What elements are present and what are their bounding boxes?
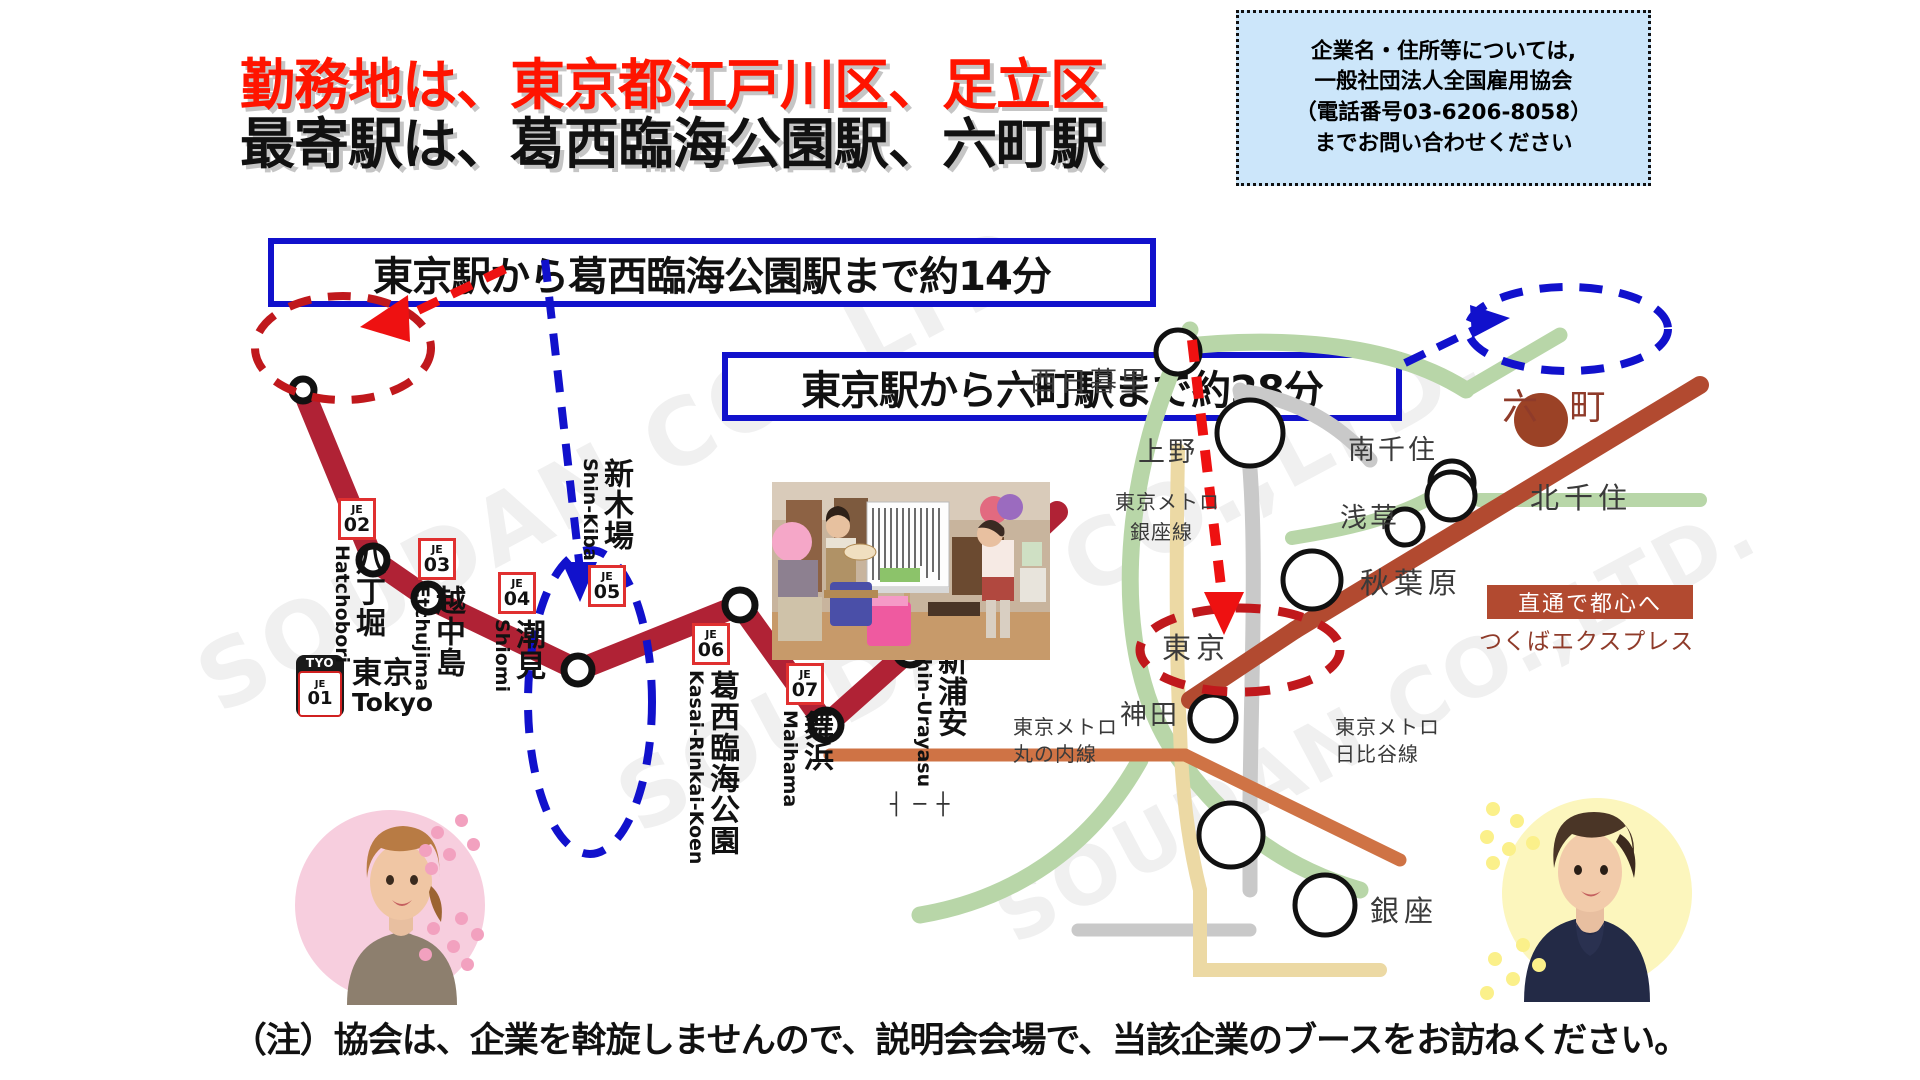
line-code: JE: [431, 544, 443, 555]
footnote-text: （注）協会は、企業を斡旋しませんので、説明会会場で、当該企業のブースをお訪ねくだ…: [232, 1021, 1688, 1061]
decor-dot: [1480, 830, 1494, 844]
station-number: 04: [504, 590, 530, 609]
contact-line-3: （電話番号03-6206-8058）: [1295, 98, 1591, 129]
metro-line-label-ginza-1: 東京メトロ: [1115, 490, 1220, 516]
station-label-shinkiba: 新木場 Shin-Kiba: [580, 458, 630, 561]
headline-line-1: 勤務地は、東京都江戸川区、足立区: [240, 56, 1104, 115]
footnote: （注）協会は、企業を斡旋しませんので、説明会会場で、当該企業のブースをお訪ねくだ…: [0, 1012, 1920, 1063]
scale-bar: ┤ ─ ┼: [890, 792, 951, 816]
callout-kasai-time: 東京駅から葛西臨海公園駅まで約14分: [268, 238, 1156, 307]
metro-line-label-marunouchi-1: 東京メトロ: [1013, 715, 1118, 741]
metro-label-kita-senju: 北千住: [1530, 475, 1632, 517]
station-number-box-je07: JE 07: [786, 663, 824, 705]
metro-label-asakusa: 浅草: [1340, 496, 1400, 535]
line-code: JE: [601, 571, 613, 582]
decor-dot: [427, 922, 440, 935]
decor-dot: [447, 940, 460, 953]
decor-dot: [425, 862, 438, 875]
station-number: 05: [594, 583, 620, 602]
station-name-jp: 葛西臨海公園: [706, 670, 736, 856]
station-name-romaji: Kasai-Rinkai-Koen: [686, 670, 705, 864]
decor-dot: [461, 958, 474, 971]
callout-kasai-text: 東京駅から葛西臨海公園駅まで約14分: [373, 244, 1051, 302]
metro-label-tokyo: 東京: [1162, 625, 1230, 667]
contact-line-4: までお問い合わせください: [1314, 129, 1572, 160]
line-code: JE: [705, 629, 717, 640]
metro-label-nishi-nippori: 西日暮里: [1030, 360, 1150, 399]
station-name-romaji: Hatchobori: [332, 545, 351, 663]
station-name-romaji: Shin-Urayasu: [914, 645, 933, 787]
station-marker-tokyo: TYO JE 01: [296, 655, 344, 717]
metro-label-akihabara: 秋葉原: [1360, 560, 1462, 602]
decor-dot: [1486, 802, 1500, 816]
decor-dot: [1488, 952, 1502, 966]
line-code: JE: [351, 504, 363, 515]
station-number: 03: [424, 556, 450, 575]
station-number: 01: [307, 690, 332, 708]
station-name-jp: 越中島: [432, 585, 462, 678]
station-name-romaji: Maihama: [780, 710, 799, 807]
decor-dot: [1516, 938, 1530, 952]
station-name-jp: 八丁堀: [352, 545, 382, 638]
line-code: JE: [511, 578, 523, 589]
metro-line-label-marunouchi-2: 丸の内線: [1013, 742, 1097, 768]
decor-dot: [431, 826, 444, 839]
station-number-box-je02: JE 02: [338, 498, 376, 540]
decor-dot: [1502, 842, 1516, 856]
decor-dot: [467, 838, 480, 851]
station-name-romaji: Tokyo: [352, 690, 433, 716]
decor-dot: [443, 848, 456, 861]
station-number-box-je03: JE 03: [418, 538, 456, 580]
contact-line-2: 一般社団法人全国雇用協会: [1314, 67, 1572, 98]
tx-direct-badge-text: 直通で都心へ: [1518, 586, 1662, 618]
metro-label-ginza: 銀座: [1370, 888, 1438, 930]
station-label-etchujima: 越中島 Etchujima: [412, 585, 462, 691]
station-name-jp: 潮見: [512, 619, 542, 681]
metro-label-ueno: 上野: [1138, 430, 1198, 469]
tx-line-name: つくばエクスプレス: [1479, 622, 1694, 656]
station-label-shin-urayasu: 新浦安 Shin-Urayasu: [914, 645, 964, 787]
decor-dot: [1510, 814, 1524, 828]
metro-line-label-ginza-2: 銀座線: [1130, 520, 1193, 546]
tx-direct-badge: 直通で都心へ: [1487, 585, 1693, 619]
station-number-box-je06: JE 06: [692, 623, 730, 665]
decor-dot: [419, 844, 432, 857]
decor-dot: [419, 948, 432, 961]
station-name-jp: 新木場: [600, 458, 630, 551]
metro-line-label-hibiya-1: 東京メトロ: [1335, 715, 1440, 741]
rokucho-highlight-ellipse: [1468, 287, 1668, 371]
arrow-to-rokucho: [1405, 305, 1510, 363]
headline-line-2: 最寄駅は、葛西臨海公園駅、六町駅: [240, 115, 1104, 174]
decor-dot: [455, 912, 468, 925]
photo-staff-right: [1480, 790, 1690, 1010]
station-number-box-je04: JE 04: [498, 572, 536, 614]
decor-dot: [1506, 972, 1520, 986]
contact-info-box: 企業名・住所等については, 一般社団法人全国雇用協会 （電話番号03-6206-…: [1236, 10, 1651, 186]
decor-dot: [1532, 958, 1546, 972]
station-label-maihama: 舞浜 Maihama: [780, 710, 830, 807]
station-name-jp: 舞浜: [800, 710, 830, 772]
station-name-romaji: Etchujima: [412, 585, 431, 691]
station-number: 02: [344, 516, 370, 535]
station-code-tyo: TYO: [306, 657, 334, 670]
station-label-hatchobori: 八丁堀 Hatchobori: [332, 545, 382, 663]
decor-dot: [455, 814, 468, 827]
station-name-romaji: Shiomi: [492, 619, 511, 692]
station-number: 06: [698, 641, 724, 660]
poster-canvas: SOUDAN CO.,LTD. SOUDAN CO.,LTD. SOUDAN C…: [0, 0, 1920, 1080]
metro-label-rokucho: 六 町: [1502, 378, 1615, 430]
decor-dot: [471, 928, 484, 941]
station-number-box-je05: JE 05: [588, 565, 626, 607]
metro-line-label-hibiya-2: 日比谷線: [1335, 742, 1419, 768]
contact-line-1: 企業名・住所等については,: [1311, 37, 1576, 68]
metro-label-minami-senju: 南千住: [1348, 428, 1438, 467]
decor-dot: [1480, 986, 1494, 1000]
station-number: 07: [792, 681, 818, 700]
metro-label-kanda: 神田: [1120, 693, 1180, 732]
decor-dot: [1526, 836, 1540, 850]
station-label-shiomi: 潮見 Shiomi: [492, 619, 542, 692]
photo-staff-left: [295, 800, 505, 1015]
headline: 勤務地は、東京都江戸川区、足立区 最寄駅は、葛西臨海公園駅、六町駅: [240, 56, 1104, 174]
station-name-romaji: Shin-Kiba: [580, 458, 599, 561]
line-code: JE: [799, 669, 811, 680]
decor-dot: [1486, 856, 1500, 870]
station-label-kasai-rinkai-koen: 葛西臨海公園 Kasai-Rinkai-Koen: [686, 670, 736, 864]
photo-activity-scene: [772, 482, 1050, 660]
